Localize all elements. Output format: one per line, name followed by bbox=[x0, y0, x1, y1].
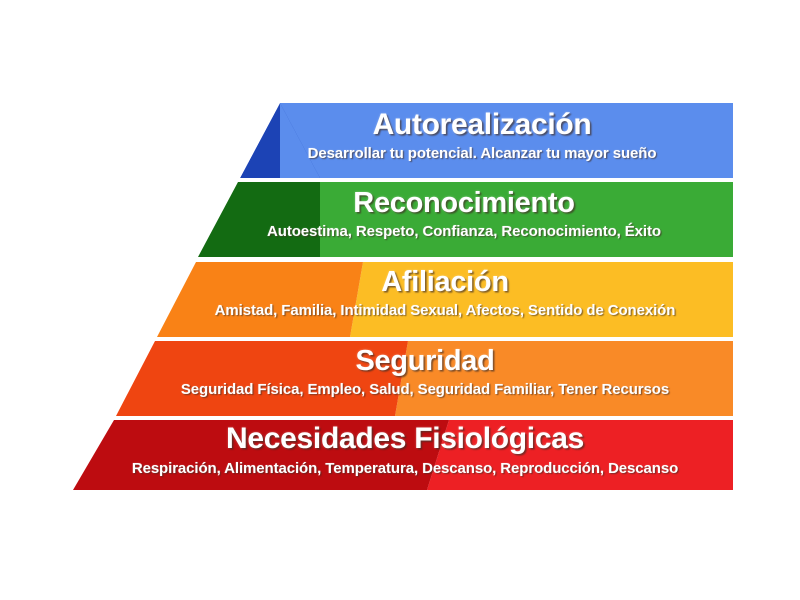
pyramid-tier-necesidades-fisiologicas[interactable] bbox=[73, 420, 733, 490]
tier-2-light-face bbox=[395, 341, 733, 416]
pyramid-tier-autorealizacion[interactable] bbox=[240, 103, 733, 178]
tier-2-dark-face bbox=[116, 341, 408, 416]
pyramid-graphic bbox=[0, 0, 800, 600]
tier-1-dark-face bbox=[73, 420, 449, 490]
tier-4-light-face bbox=[320, 182, 733, 257]
tier-5-light-face bbox=[280, 103, 733, 178]
pyramid-tier-afiliacion[interactable] bbox=[157, 262, 733, 337]
tier-1-light-face bbox=[427, 420, 733, 490]
pyramid-tier-reconocimiento[interactable] bbox=[198, 182, 733, 257]
pyramid-tier-seguridad[interactable] bbox=[116, 341, 733, 416]
pyramid-figure: Autorealización Desarrollar tu potencial… bbox=[0, 0, 800, 600]
tier-3-light-face bbox=[350, 262, 733, 337]
